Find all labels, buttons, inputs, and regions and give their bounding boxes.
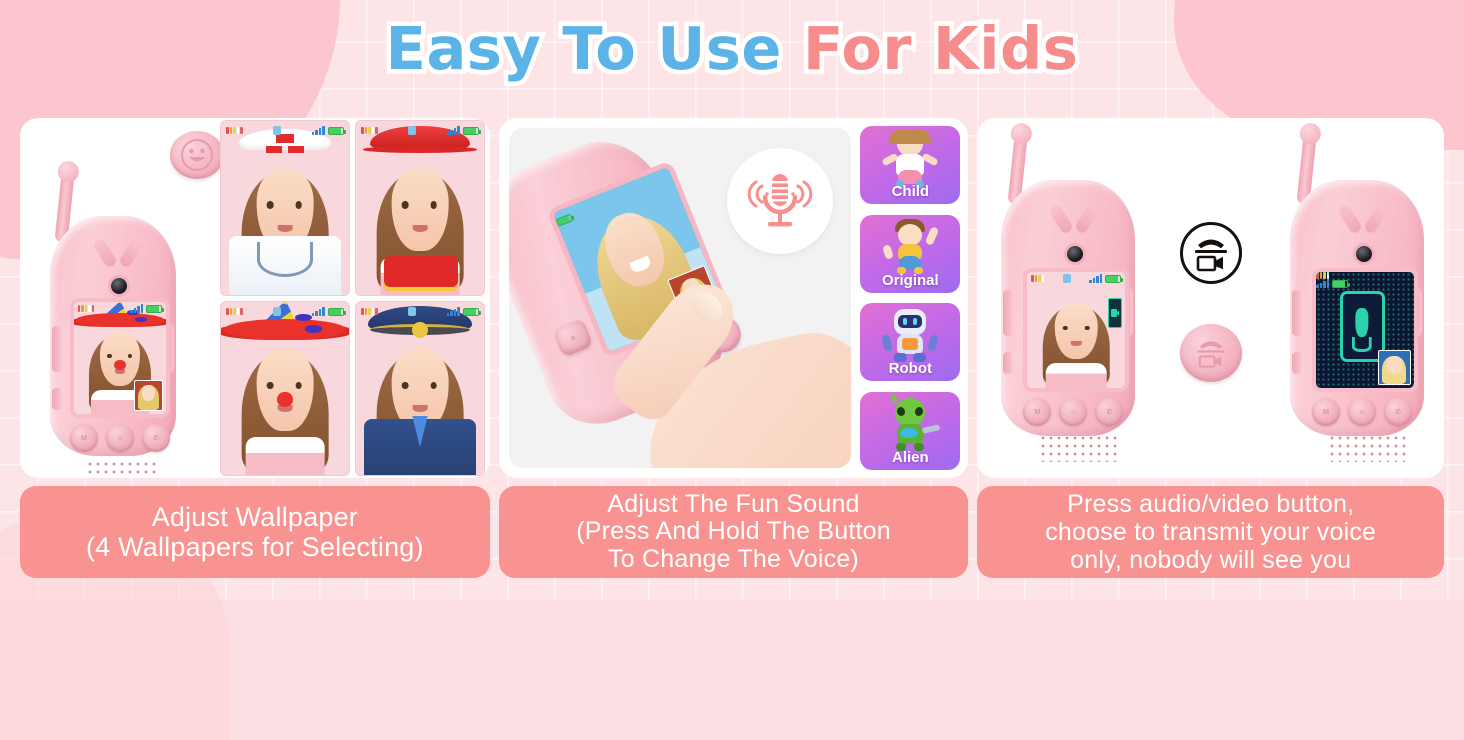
screen-status-bar bbox=[356, 302, 484, 321]
voice-mode-label: Original bbox=[882, 272, 939, 289]
girl-character-icon bbox=[878, 130, 942, 188]
battery-icon bbox=[328, 308, 344, 316]
mode-button[interactable]: M bbox=[1312, 398, 1340, 426]
caption-wallpaper: Adjust Wallpaper (4 Wallpapers for Selec… bbox=[20, 486, 490, 578]
robot-character-icon bbox=[878, 307, 942, 365]
microphone-icon bbox=[1355, 308, 1368, 337]
side-button-bottom[interactable] bbox=[52, 388, 61, 410]
camera-lens-icon bbox=[111, 278, 127, 294]
status-left-icons bbox=[78, 305, 95, 312]
clown-nose bbox=[114, 360, 125, 370]
device-buttons: M ☺ ✆ bbox=[70, 424, 170, 454]
battery-icon bbox=[146, 305, 162, 313]
screen-status-bar bbox=[221, 121, 349, 140]
boy-character-icon bbox=[878, 219, 942, 277]
smiley-button[interactable]: ☺ bbox=[106, 424, 134, 452]
status-left-icons bbox=[361, 127, 378, 134]
side-button-bottom[interactable] bbox=[1292, 352, 1301, 374]
walkie-talkie-video-mode: M ☺ ✆ bbox=[993, 138, 1143, 438]
picture-in-picture-thumbnail bbox=[134, 380, 163, 411]
device-screen bbox=[1316, 272, 1414, 388]
status-left-icons bbox=[1031, 275, 1044, 282]
mode-button[interactable]: M bbox=[70, 424, 98, 452]
call-button[interactable]: ✆ bbox=[1095, 398, 1123, 426]
clown-nose bbox=[277, 392, 292, 408]
camera-lens-icon bbox=[1356, 246, 1372, 262]
screen-status-bar bbox=[221, 302, 349, 321]
panel-fun-sound: ≡ M ✆ bbox=[499, 118, 969, 478]
walkie-talkie-device: M ☺ ✆ bbox=[42, 176, 184, 456]
bluetooth-icon bbox=[273, 307, 281, 316]
caption-fun-sound: Adjust The Fun Sound (Press And Hold The… bbox=[499, 486, 969, 578]
caption-line: only, nobody will see you bbox=[1070, 546, 1351, 574]
screen-status-bar bbox=[1027, 272, 1125, 285]
wallpaper-device-area: M ☺ ✆ bbox=[20, 118, 220, 478]
mode-button[interactable]: M bbox=[1023, 398, 1051, 426]
voice-only-screen bbox=[1316, 272, 1414, 388]
speaker-grille bbox=[1328, 434, 1406, 462]
battery-icon bbox=[1332, 280, 1348, 288]
caption-line: Adjust Wallpaper bbox=[152, 502, 358, 532]
microphone-badge bbox=[727, 148, 833, 254]
battery-icon bbox=[463, 308, 479, 316]
speaker-grille bbox=[86, 460, 158, 478]
device-screen bbox=[74, 302, 166, 414]
camera-lens-icon bbox=[1067, 246, 1083, 262]
signal-bars-icon bbox=[447, 307, 460, 316]
bluetooth-icon bbox=[1063, 274, 1071, 283]
battery-icon bbox=[463, 127, 479, 135]
signal-bars-icon bbox=[1089, 274, 1102, 283]
caption-audio-video: Press audio/video button, choose to tran… bbox=[977, 486, 1444, 578]
caption-line: choose to transmit your voice bbox=[1045, 518, 1376, 546]
caption-line: (Press And Hold The Button bbox=[576, 518, 891, 546]
voice-mode-child[interactable]: Child bbox=[860, 126, 960, 204]
stethoscope bbox=[257, 242, 313, 277]
status-right-icons bbox=[1089, 274, 1121, 283]
firefighter-scarf bbox=[384, 256, 458, 291]
caption-bars: Adjust Wallpaper (4 Wallpapers for Selec… bbox=[20, 486, 1444, 578]
call-button[interactable]: ✆ bbox=[1384, 398, 1412, 426]
status-right-icons bbox=[130, 304, 162, 313]
status-right-icons bbox=[312, 307, 344, 316]
walkie-talkie-voice-mode: M ☺ ✆ bbox=[1282, 138, 1432, 438]
signal-bars-icon bbox=[130, 304, 143, 313]
side-button-right[interactable] bbox=[1124, 288, 1133, 336]
side-button[interactable]: ≡ bbox=[552, 318, 593, 358]
video-camera-icon bbox=[1110, 307, 1120, 319]
device-body: M ☺ ✆ bbox=[1001, 180, 1135, 436]
wallpaper-thumb-captain[interactable] bbox=[355, 301, 485, 477]
status-right-icons bbox=[312, 126, 344, 135]
bunny-ear-decoration bbox=[1053, 204, 1097, 230]
voice-mode-list: Child Original bbox=[860, 126, 960, 470]
title-part-blue: Easy To Use bbox=[386, 14, 782, 83]
signal-bars-icon bbox=[312, 126, 325, 135]
wallpaper-thumbnail-grid bbox=[220, 118, 488, 478]
status-left-icons bbox=[226, 127, 243, 134]
side-button-right[interactable] bbox=[165, 324, 174, 372]
speaker-grille bbox=[1039, 434, 1117, 462]
phone-over-video-icon bbox=[1191, 335, 1231, 371]
device-buttons: M ☺ ✆ bbox=[1312, 398, 1418, 428]
wallpaper-thumb-nurse[interactable] bbox=[220, 120, 350, 296]
smiley-button[interactable]: ☺ bbox=[1059, 398, 1087, 426]
device-body: M ☺ ✆ bbox=[50, 216, 176, 456]
bunny-ear-decoration bbox=[97, 238, 141, 264]
microphone-stand bbox=[1352, 337, 1372, 351]
side-button-right[interactable] bbox=[1413, 288, 1422, 336]
voice-mode-original[interactable]: Original bbox=[860, 215, 960, 293]
voice-mode-robot[interactable]: Robot bbox=[860, 303, 960, 381]
voice-mode-label: Alien bbox=[892, 449, 929, 466]
battery-icon bbox=[328, 127, 344, 135]
hand-pressing-button bbox=[621, 252, 851, 468]
voice-mode-alien[interactable]: Alien bbox=[860, 392, 960, 470]
picture-in-picture-thumbnail bbox=[1378, 350, 1411, 385]
panel-audio-video: M ☺ ✆ bbox=[977, 118, 1444, 478]
status-left-icons bbox=[361, 308, 378, 315]
smiley-icon bbox=[179, 137, 215, 173]
voice-mode-label: Robot bbox=[889, 360, 932, 377]
smiley-face-button-icon[interactable] bbox=[170, 131, 224, 179]
screen-status-bar bbox=[74, 302, 166, 314]
side-button-top[interactable] bbox=[52, 326, 61, 372]
status-right-icons bbox=[447, 307, 479, 316]
alien-character-icon bbox=[878, 396, 942, 454]
device-screen bbox=[1027, 272, 1125, 388]
audio-video-toggle-icon bbox=[1180, 222, 1242, 284]
bluetooth-icon bbox=[273, 126, 281, 135]
video-call-badge bbox=[1108, 298, 1123, 328]
caption-line: Adjust The Fun Sound bbox=[607, 491, 859, 519]
title-part-pink: For Kids bbox=[782, 14, 1078, 83]
screen-status-bar bbox=[356, 121, 484, 140]
bluetooth-icon bbox=[408, 126, 416, 135]
side-button-top[interactable] bbox=[1292, 290, 1301, 336]
side-button-bottom[interactable] bbox=[1003, 352, 1012, 374]
page-title: Easy To Use For Kids bbox=[0, 18, 1464, 80]
smiley-button[interactable]: ☺ bbox=[1348, 398, 1376, 426]
status-left-icons bbox=[226, 308, 243, 315]
panel-wallpaper: M ☺ ✆ bbox=[20, 118, 490, 478]
audio-video-side-button[interactable] bbox=[1180, 324, 1242, 382]
status-right-icons bbox=[447, 126, 479, 135]
signal-bars-icon bbox=[447, 126, 460, 135]
signal-bars-icon bbox=[312, 307, 325, 316]
fun-sound-photo-stage: ≡ M ✆ bbox=[509, 128, 851, 468]
voice-mode-label: Child bbox=[892, 183, 930, 200]
caption-line: To Change The Voice) bbox=[608, 546, 859, 574]
battery-icon bbox=[1105, 275, 1121, 283]
side-button-top[interactable] bbox=[1003, 290, 1012, 336]
wallpaper-thumb-clown[interactable] bbox=[220, 301, 350, 477]
device-body: M ☺ ✆ bbox=[1290, 180, 1424, 436]
caption-line: Press audio/video button, bbox=[1067, 490, 1354, 518]
phone-over-video-icon bbox=[1190, 232, 1232, 274]
microphone-icon bbox=[743, 164, 817, 238]
device-buttons: M ☺ ✆ bbox=[1023, 398, 1129, 428]
bunny-ear-decoration bbox=[1342, 204, 1386, 230]
feature-panels: M ☺ ✆ bbox=[20, 118, 1444, 478]
call-button[interactable]: ✆ bbox=[142, 424, 170, 452]
caption-line: (4 Wallpapers for Selecting) bbox=[86, 532, 424, 562]
screen-photo-subject bbox=[1040, 291, 1113, 388]
bluetooth-icon bbox=[408, 307, 416, 316]
wallpaper-thumb-firefighter[interactable] bbox=[355, 120, 485, 296]
